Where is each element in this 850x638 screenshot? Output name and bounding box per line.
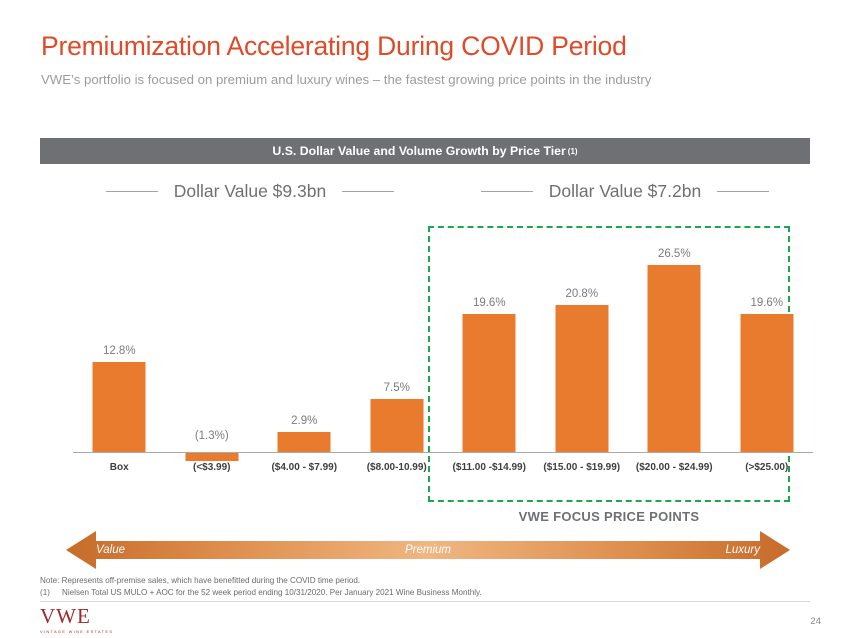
page-title: Premiumization Accelerating During COVID… (41, 31, 627, 62)
rule-line-icon (106, 191, 158, 192)
bar-slot: (1.3%) (166, 222, 259, 452)
bar-value-label: 7.5% (384, 382, 410, 394)
bar-value-label: 26.5% (658, 248, 691, 260)
rule-line-icon (481, 191, 533, 192)
footnotes: Note: Represents off-premise sales, whic… (40, 575, 740, 598)
rule-line-icon (342, 191, 394, 192)
bar[interactable] (370, 399, 423, 452)
bar-value-label: (1.3%) (195, 430, 229, 442)
vwe-focus-price-points-label: VWE FOCUS PRICE POINTS (428, 509, 790, 524)
category-label: ($15.00 - $19.99) (536, 462, 629, 473)
bar[interactable] (278, 432, 331, 452)
footnote-source-number: (1) (40, 587, 62, 599)
category-label: ($8.00-10.99) (351, 462, 444, 473)
dollar-value-left-label: Dollar Value $9.3bn (174, 181, 326, 202)
vwe-logo-subtitle: VINTAGE WINE ESTATES (40, 628, 150, 635)
bar-value-label: 20.8% (565, 288, 598, 300)
chart-header-title: U.S. Dollar Value and Volume Growth by P… (272, 144, 565, 158)
bar[interactable] (93, 362, 146, 452)
bar[interactable] (463, 314, 516, 452)
bar[interactable] (648, 265, 701, 452)
vwe-logo: VWE VINTAGE WINE ESTATES (40, 606, 150, 635)
spectrum-label-luxury: Luxury (725, 530, 760, 570)
chart-header-band: U.S. Dollar Value and Volume Growth by P… (40, 138, 810, 164)
bar[interactable] (555, 305, 608, 452)
bar-slot: 19.6% (443, 222, 536, 452)
bar-chart-plot-area: 12.8%(1.3%)2.9%7.5%19.6%20.8%26.5%19.6% (40, 222, 810, 472)
spectrum-label-premium: Premium (66, 530, 790, 570)
category-label: Box (73, 462, 166, 473)
bar-value-label: 2.9% (291, 415, 317, 427)
bar-slot: 7.5% (351, 222, 444, 452)
dollar-value-caption-left: Dollar Value $9.3bn (80, 176, 420, 206)
page-number: 24 (810, 616, 821, 627)
category-label: ($11.00 -$14.99) (443, 462, 536, 473)
bar-value-label: 19.6% (750, 297, 783, 309)
chart-header-band-label: U.S. Dollar Value and Volume Growth by P… (40, 138, 810, 164)
footnote-source-line: (1)Nielsen Total US MULO + AOC for the 5… (40, 587, 740, 599)
footnote-source-text: Nielsen Total US MULO + AOC for the 52 w… (62, 588, 482, 597)
dollar-value-right-label: Dollar Value $7.2bn (549, 181, 701, 202)
category-label: ($20.00 - $24.99) (628, 462, 721, 473)
bar[interactable] (185, 452, 238, 461)
footnote-note: Note: Represents off-premise sales, whic… (40, 575, 740, 587)
bar[interactable] (740, 314, 793, 452)
bar-slot: 20.8% (536, 222, 629, 452)
category-label: ($4.00 - $7.99) (258, 462, 351, 473)
bar-value-label: 19.6% (473, 297, 506, 309)
category-label: (<$3.99) (166, 462, 259, 473)
bar-value-label: 12.8% (103, 345, 136, 357)
footer-divider (40, 601, 810, 602)
category-label: (>$25.00) (721, 462, 814, 473)
page-subtitle: VWE’s portfolio is focused on premium an… (41, 72, 651, 87)
rule-line-icon (717, 191, 769, 192)
dollar-value-caption-row: Dollar Value $9.3bn Dollar Value $7.2bn (40, 176, 810, 206)
chart-header-footnote-marker: (1) (568, 147, 578, 156)
dollar-value-caption-right: Dollar Value $7.2bn (440, 176, 810, 206)
bar-slot: 26.5% (628, 222, 721, 452)
slide-root: Premiumization Accelerating During COVID… (0, 0, 850, 638)
vwe-logo-mark: VWE (40, 606, 150, 627)
bar-slot: 19.6% (721, 222, 814, 452)
chart-baseline-axis (73, 452, 813, 453)
price-spectrum-arrow: Value Premium Luxury (66, 530, 790, 570)
bar-slot: 2.9% (258, 222, 351, 452)
category-axis-labels: Box(<$3.99)($4.00 - $7.99)($8.00-10.99)(… (73, 462, 813, 480)
bar-slot: 12.8% (73, 222, 166, 452)
bar-series: 12.8%(1.3%)2.9%7.5%19.6%20.8%26.5%19.6% (73, 222, 813, 452)
